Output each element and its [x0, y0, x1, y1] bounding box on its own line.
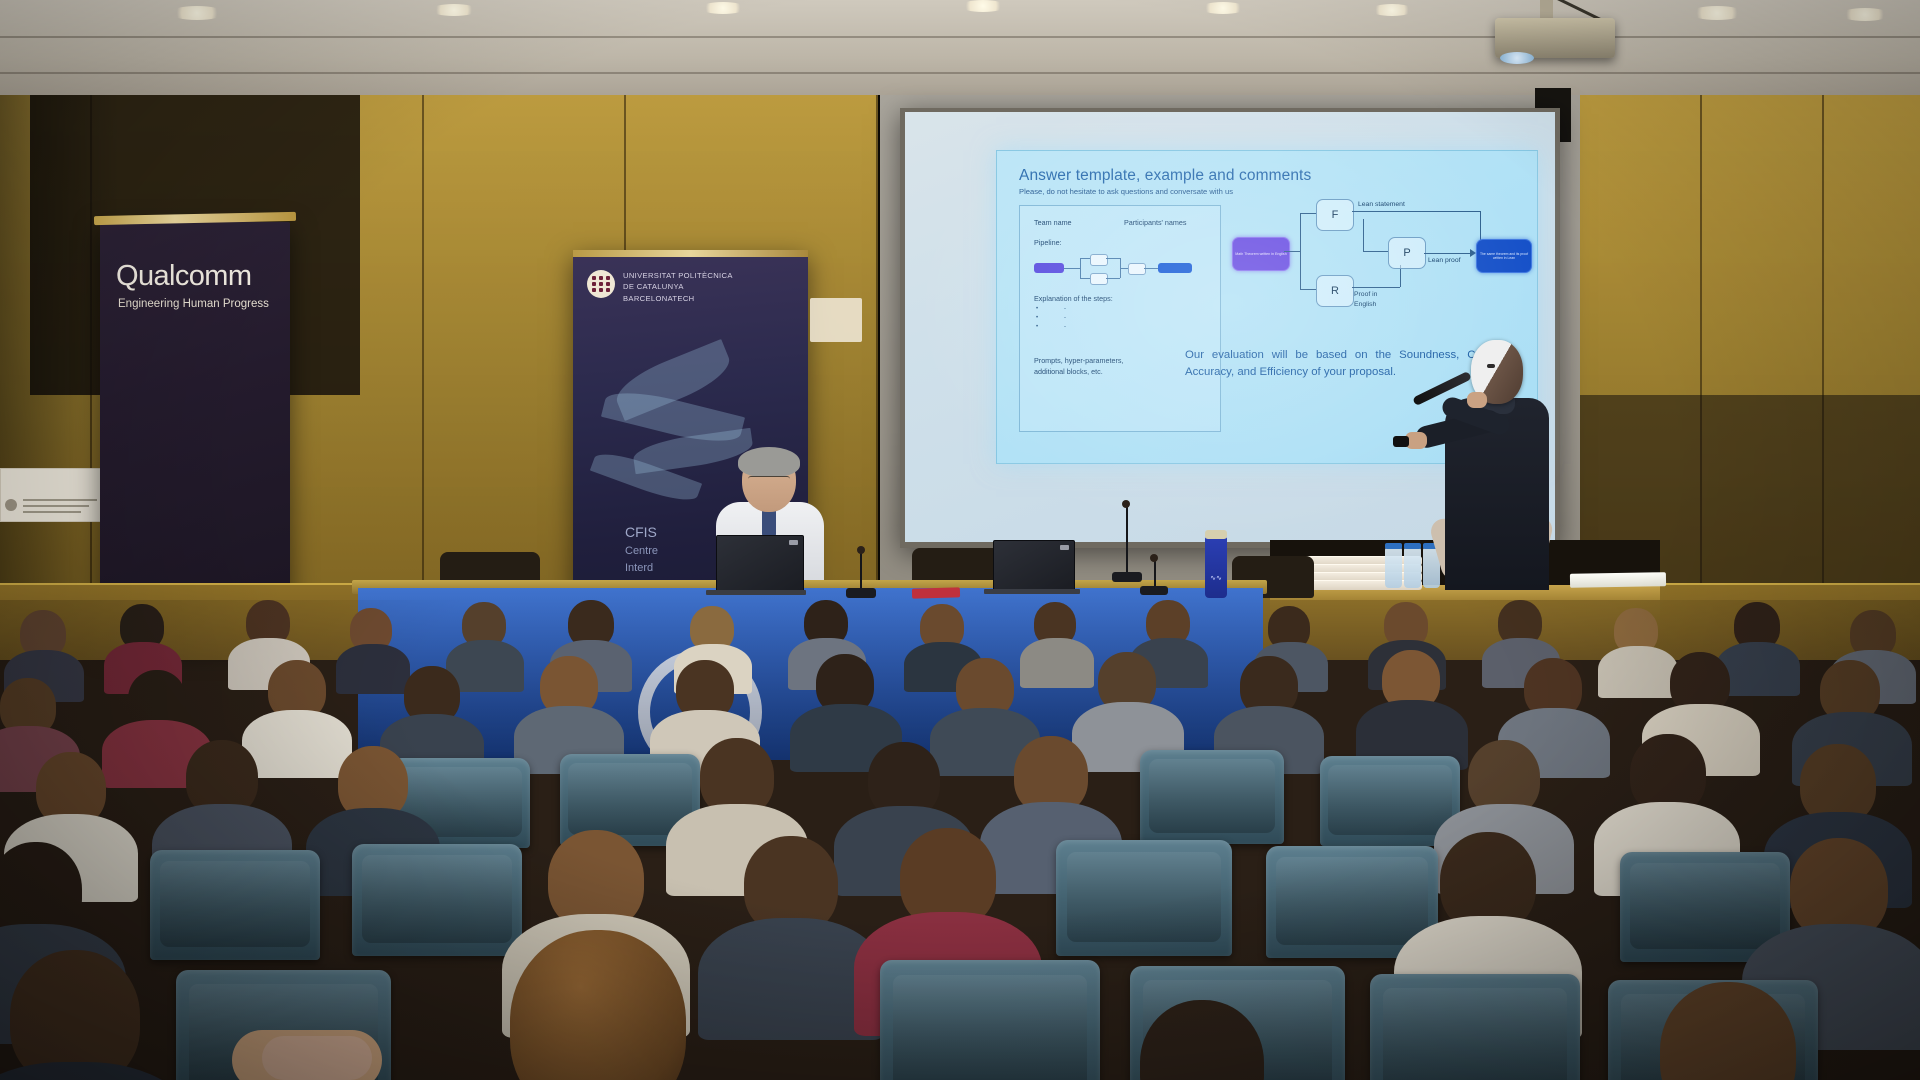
mini-node-p [1128, 263, 1146, 275]
red-booklet [912, 587, 960, 598]
upc-seal-icon [587, 270, 615, 298]
qualcomm-logo: Qualcomm [116, 260, 276, 293]
qualcomm-tagline: Engineering Human Progress [118, 298, 283, 310]
diagram-input-node: Math Theorem written in English [1232, 237, 1290, 271]
pipeline-diagram: Math Theorem written in English F R Lean… [1232, 195, 1517, 325]
auditorium-seat [1056, 840, 1232, 956]
bullet: • [1036, 324, 1038, 330]
ceiling-light [430, 4, 478, 16]
ceiling-light [1840, 8, 1890, 21]
secondary-banner-logo [810, 298, 862, 342]
mask-eye [1487, 364, 1495, 368]
sub-bullet: - [1064, 315, 1066, 321]
secondary-banner [790, 270, 880, 390]
table-mic-center-stem [1126, 505, 1128, 575]
auditorium-scene: Answer template, example and comments Pl… [0, 0, 1920, 1080]
mini-output-node [1158, 263, 1192, 273]
laptop-right-base [984, 589, 1080, 594]
auditorium-seat [1140, 750, 1284, 844]
field-team-name: Team name [1034, 218, 1072, 227]
bottle-logo-icon: ∿∿ [1208, 574, 1224, 582]
diagram-node-p: P [1388, 237, 1426, 269]
diagram-output-node: The same theorem and its proof written i… [1476, 239, 1532, 273]
table-mic-left-base [846, 588, 876, 598]
field-pipeline: Pipeline: [1034, 238, 1062, 247]
edge-label-lean-statement: Lean statement [1358, 201, 1405, 208]
cfis-line-2: Interd [625, 560, 658, 577]
wall-poster [0, 468, 107, 522]
upc-line-3: BARCELONATECH [623, 293, 793, 304]
edge-label-lean-proof: Lean proof [1428, 257, 1461, 264]
upc-line-2: DE CATALUNYA [623, 281, 793, 292]
cfis-line-1: Centre [625, 543, 658, 560]
pipeline-mini-diagram [1034, 254, 1209, 280]
edge-label-proof-english-1: Proof in [1354, 291, 1377, 298]
field-extras-line-1: Prompts, hyper-parameters, [1034, 356, 1123, 365]
cfis-abbrev: CFIS [625, 522, 658, 543]
water-bottle [1404, 548, 1421, 588]
table-mic-left-head [857, 546, 865, 554]
audience-area [0, 600, 1920, 1080]
answer-template-card: Team name Participants' names Pipeline: [1019, 205, 1221, 432]
presentation-clicker [1393, 436, 1409, 447]
mini-node-r [1090, 273, 1108, 285]
laptop-right [993, 540, 1075, 594]
ceiling-light [1690, 6, 1744, 20]
water-bottle-cap [1404, 543, 1421, 549]
ceiling-light [700, 2, 746, 14]
ceiling-light [960, 0, 1006, 12]
laptop-left [716, 535, 804, 595]
diagram-node-f: F [1316, 199, 1354, 231]
mini-input-node [1034, 263, 1064, 273]
laptop-logo-icon [1060, 545, 1069, 550]
presenter [1423, 340, 1563, 590]
water-bottle [1385, 548, 1402, 588]
projector-lens-icon [1500, 52, 1534, 64]
bullet: • [1036, 306, 1038, 312]
field-explanation-of-steps: Explanation of the steps: [1034, 294, 1113, 303]
table-mic-center-base [1112, 572, 1142, 582]
ceiling-light [170, 6, 224, 20]
ceiling-light [1370, 4, 1414, 16]
qualcomm-banner: Qualcomm Engineering Human Progress [100, 222, 290, 642]
poster-seal-icon [5, 499, 17, 511]
moderator-hair [738, 447, 800, 477]
slide-subtitle: Please, do not hesitate to ask questions… [1019, 187, 1233, 196]
auditorium-seat [352, 844, 522, 956]
field-extras-line-2: additional blocks, etc. [1034, 367, 1103, 376]
water-bottle-cap [1385, 543, 1402, 549]
cfis-wordmark: CFIS Centre Interd [625, 522, 658, 576]
upc-wordmark: UNIVERSITAT POLITÈCNICA DE CATALUNYA BAR… [623, 270, 793, 304]
sub-bullet: - [1064, 324, 1066, 330]
auditorium-seat [880, 960, 1100, 1080]
field-participants-names: Participants' names [1124, 218, 1187, 227]
table-mic-center-head [1122, 500, 1130, 508]
upc-line-1: UNIVERSITAT POLITÈCNICA [623, 270, 793, 281]
sub-bullet: - [1064, 306, 1066, 312]
table-mic-right-base [1140, 586, 1168, 595]
slide-title: Answer template, example and comments [1019, 167, 1311, 185]
auditorium-seat [1370, 974, 1580, 1080]
banner-top-rail [573, 250, 808, 257]
edge-label-proof-english-2: English [1354, 301, 1376, 308]
laptop-left-base [706, 590, 806, 595]
bottle-cap [1205, 530, 1227, 539]
mini-node-f [1090, 254, 1108, 266]
glasses-icon [748, 476, 790, 485]
auditorium-seat [150, 850, 320, 960]
laptop-logo-icon [789, 540, 798, 545]
ceiling-light [1200, 2, 1246, 14]
table-mic-right-head [1150, 554, 1158, 562]
papers-stack [1570, 572, 1666, 588]
blue-water-bottle: ∿∿ [1205, 536, 1227, 598]
bullet: • [1036, 315, 1038, 321]
ceiling [0, 0, 1920, 105]
presenter-hand [1467, 392, 1487, 408]
diagram-node-r: R [1316, 275, 1354, 307]
